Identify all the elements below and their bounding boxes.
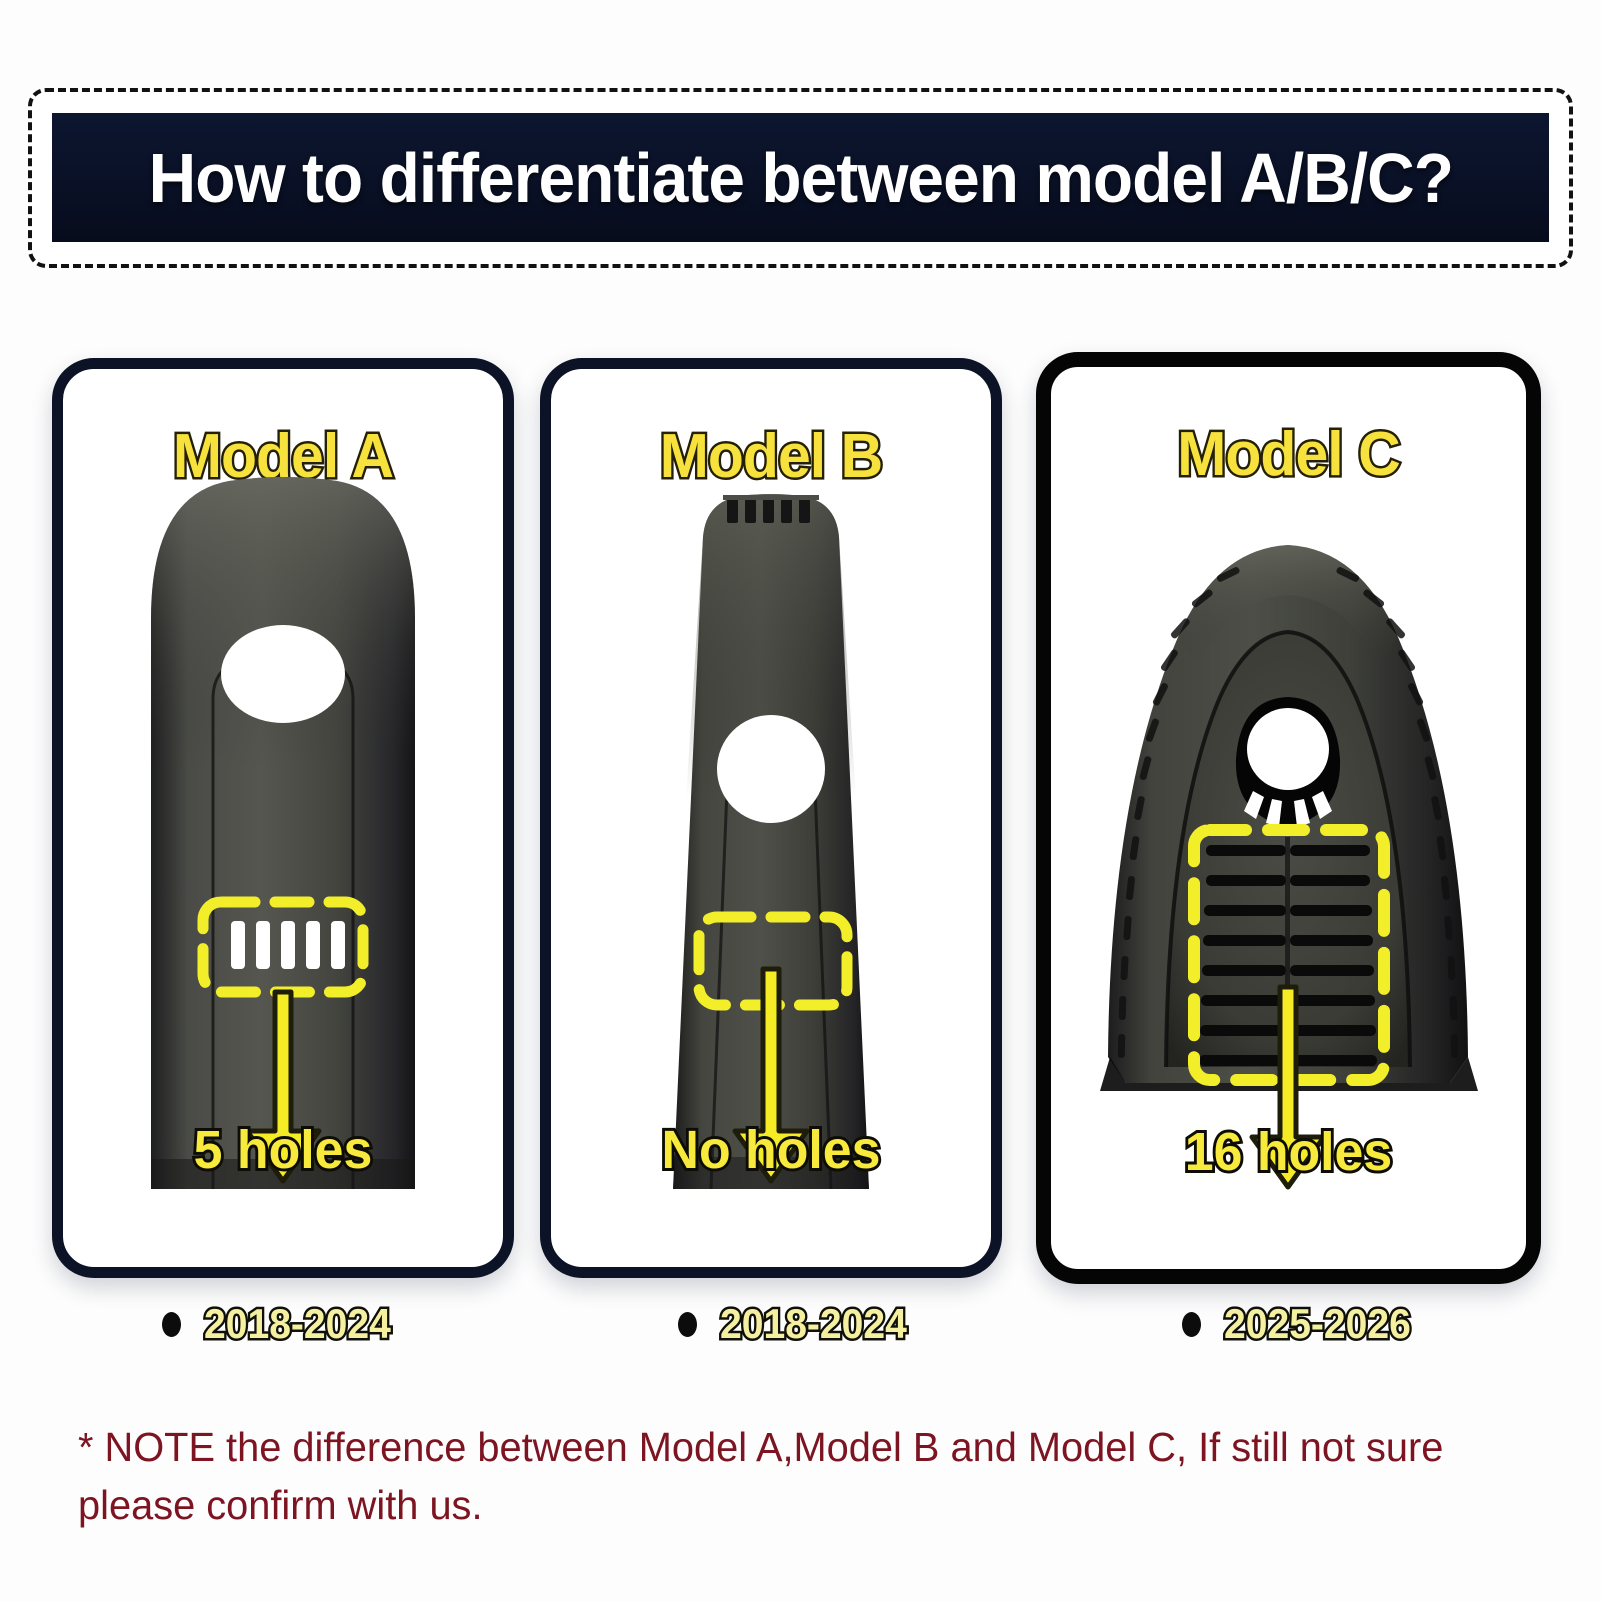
title-banner: How to differentiate between model A/B/C… [52,113,1549,242]
model-a-holes-label: 5 holes [72,1119,494,1181]
model-card-a: Model A [52,358,514,1278]
bullet-icon [162,1312,181,1337]
model-card-c: Model C [1036,352,1541,1284]
note-text: * NOTE the difference between Model A,Mo… [78,1418,1475,1534]
year-range-c: 2025-2026 [1224,1300,1411,1348]
year-row-c: 2025-2026 [1182,1300,1418,1348]
model-c-holes-label: 16 holes [1061,1121,1517,1183]
year-row-a: 2018-2024 [162,1300,398,1348]
bullet-icon [1182,1312,1201,1337]
bullet-icon [678,1312,697,1337]
model-card-b: Model B [540,358,1002,1278]
model-b-holes-label: No holes [560,1119,982,1181]
year-row-b: 2018-2024 [678,1300,914,1348]
year-range-b: 2018-2024 [720,1300,907,1348]
year-range-a: 2018-2024 [204,1300,391,1348]
page-title: How to differentiate between model A/B/C… [148,138,1452,218]
